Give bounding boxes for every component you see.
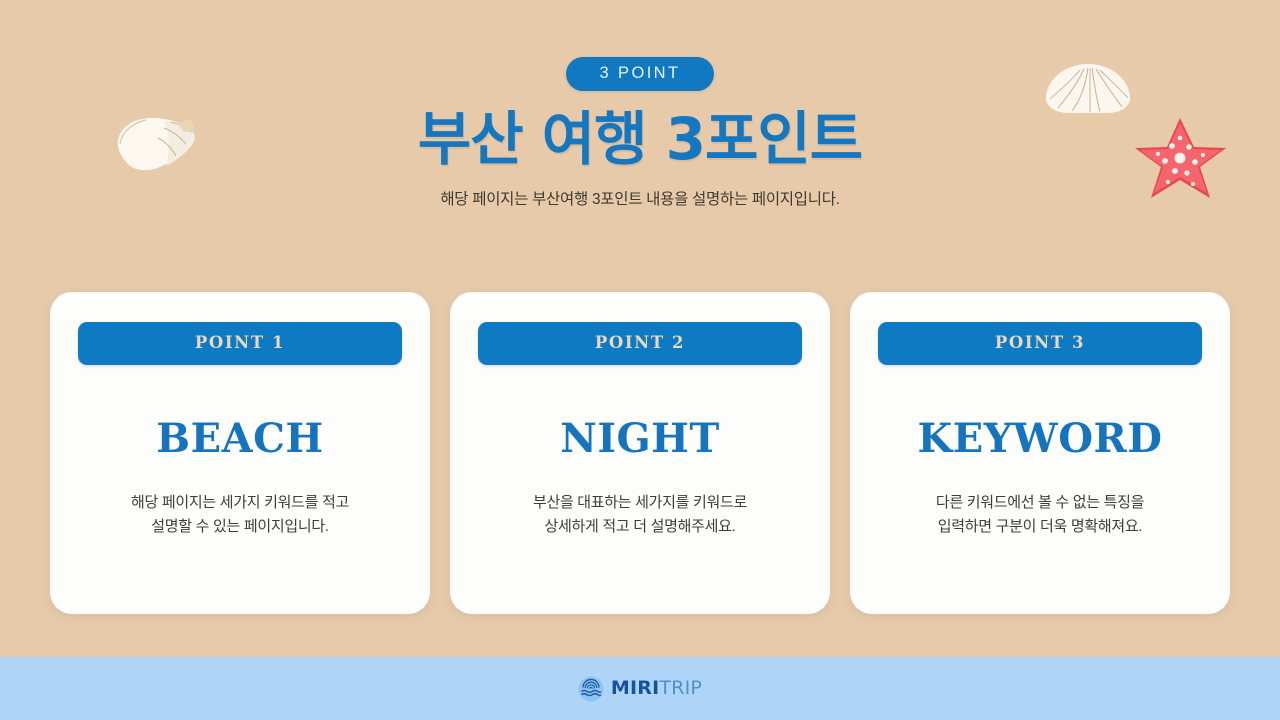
point-card-3[interactable]: POINT 3 KEYWORD 다른 키워드에선 볼 수 없는 특징을 입력하면…	[850, 292, 1230, 614]
card-badge-point-1: POINT 1	[78, 322, 402, 365]
card-badge-point-2: POINT 2	[478, 322, 802, 365]
card-description-line: 입력하면 구분이 더욱 명확해져요.	[880, 515, 1200, 539]
point-cards-container: POINT 1 BEACH 해당 페이지는 세가지 키워드를 적고 설명할 수 …	[50, 292, 1230, 614]
card-description-2: 부산을 대표하는 세가지를 키워드로 상세하게 적고 더 설명해주세요.	[480, 491, 800, 538]
card-badge-point-3: POINT 3	[878, 322, 1202, 365]
card-description-line: 설명할 수 있는 페이지입니다.	[80, 515, 400, 539]
card-description-line: 부산을 대표하는 세가지를 키워드로	[480, 491, 800, 515]
logo-text-secondary: TRIP	[659, 677, 702, 699]
section-badge-3-point: 3 POINT	[566, 57, 715, 91]
wave-sun-circle-icon	[578, 676, 604, 702]
card-description-1: 해당 페이지는 세가지 키워드를 적고 설명할 수 있는 페이지입니다.	[80, 491, 400, 538]
page-title: 부산 여행 3포인트	[0, 108, 1280, 171]
card-description-line: 다른 키워드에선 볼 수 없는 특징을	[880, 491, 1200, 515]
page-header: 3 POINT 부산 여행 3포인트 해당 페이지는 부산여행 3포인트 내용을…	[0, 0, 1280, 209]
card-heading-night: NIGHT	[560, 419, 720, 459]
card-description-line: 해당 페이지는 세가지 키워드를 적고	[80, 491, 400, 515]
point-card-1[interactable]: POINT 1 BEACH 해당 페이지는 세가지 키워드를 적고 설명할 수 …	[50, 292, 430, 614]
point-card-2[interactable]: POINT 2 NIGHT 부산을 대표하는 세가지를 키워드로 상세하게 적고…	[450, 292, 830, 614]
logo-text-primary: MIRI	[611, 677, 659, 699]
page-footer: MIRITRIP	[0, 657, 1280, 720]
card-heading-beach: BEACH	[156, 419, 323, 459]
brand-logo[interactable]: MIRITRIP	[578, 676, 702, 702]
card-description-3: 다른 키워드에선 볼 수 없는 특징을 입력하면 구분이 더욱 명확해져요.	[880, 491, 1200, 538]
card-heading-keyword: KEYWORD	[917, 419, 1162, 459]
page-subtitle: 해당 페이지는 부산여행 3포인트 내용을 설명하는 페이지입니다.	[0, 187, 1280, 209]
card-description-line: 상세하게 적고 더 설명해주세요.	[480, 515, 800, 539]
